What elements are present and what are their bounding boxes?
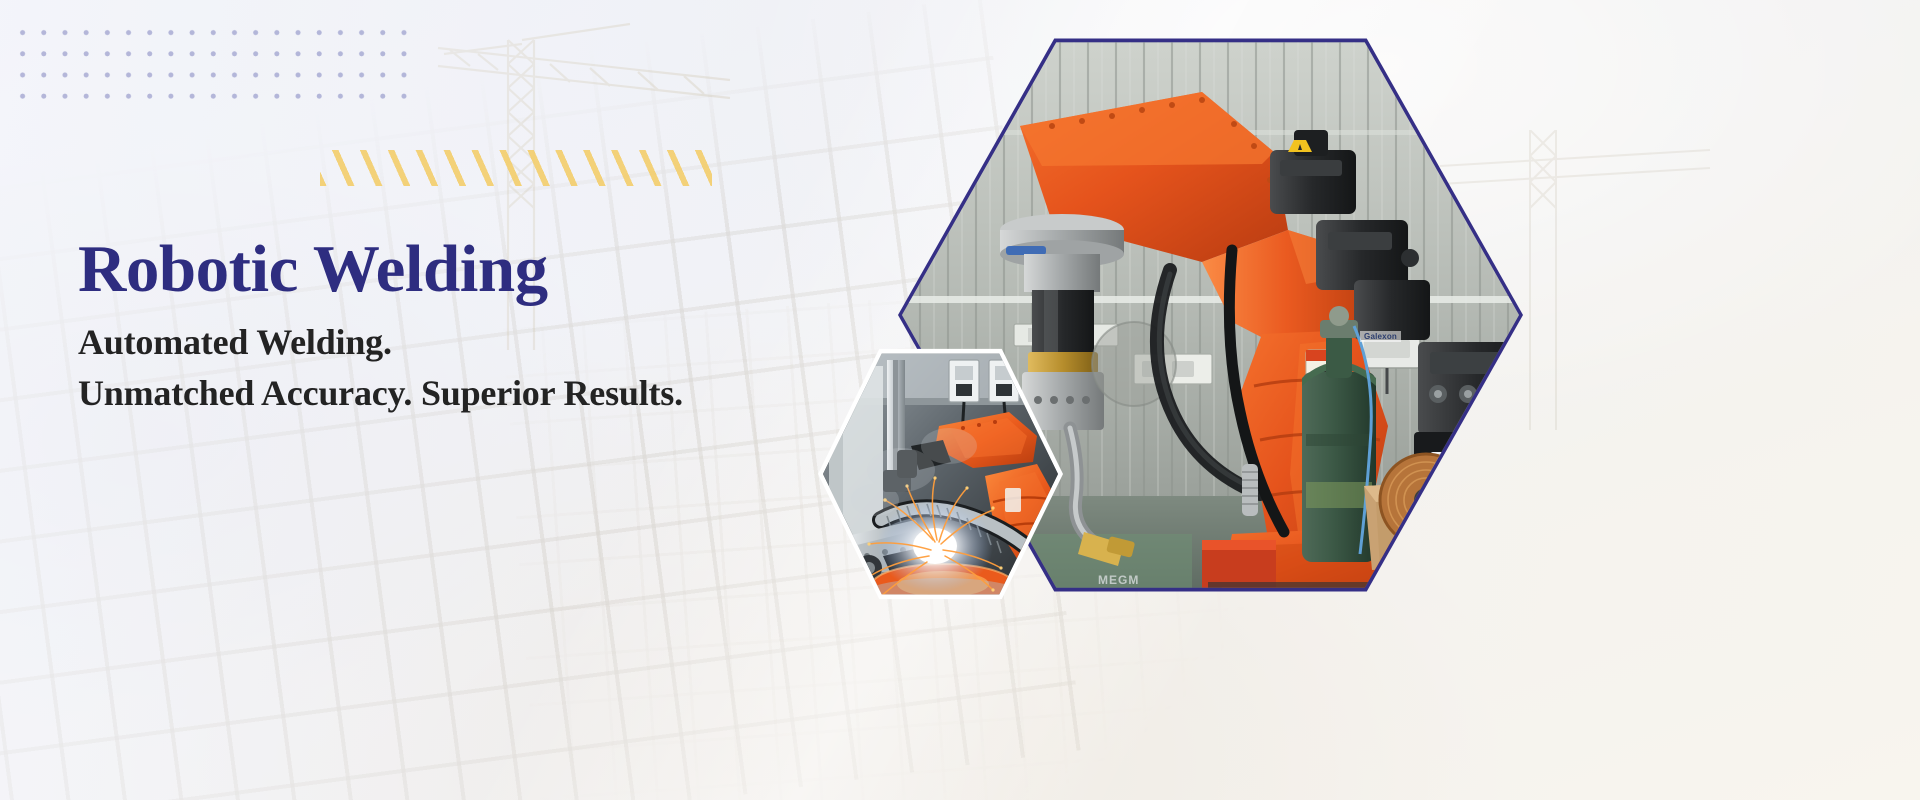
hero-banner: Robotic Welding Automated Welding. Unmat… [0,0,1920,800]
hero-subtitle-line-1: Automated Welding. [78,322,392,362]
hero-subtitle-line-2: Unmatched Accuracy. Superior Results. [78,368,978,418]
page-title: Robotic Welding [78,235,978,303]
hero-subtitle: Automated Welding. Unmatched Accuracy. S… [78,317,978,418]
diagonal-stripes-pattern [320,150,712,186]
dotted-grid-pattern [12,22,420,108]
hero-copy: Robotic Welding Automated Welding. Unmat… [78,235,978,418]
